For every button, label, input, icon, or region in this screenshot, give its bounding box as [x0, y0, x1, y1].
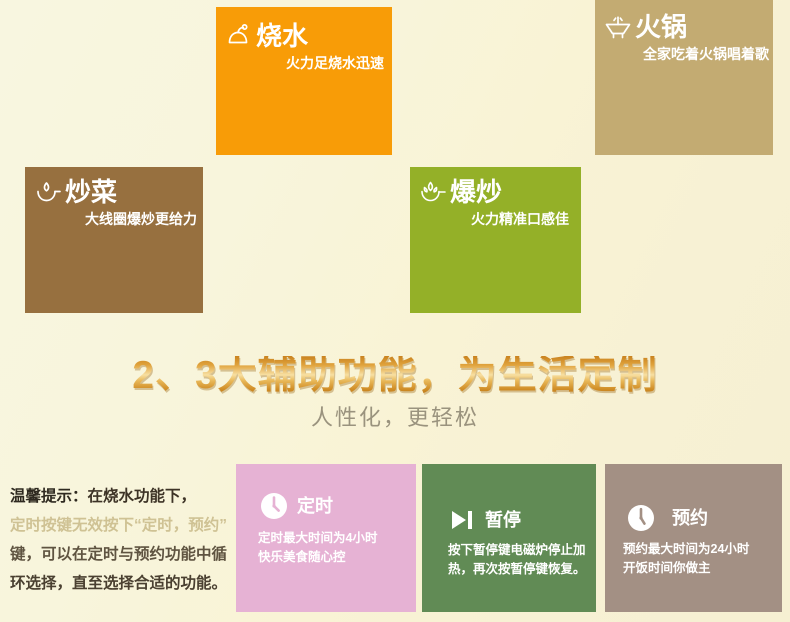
function-card-book-header: 预约 [623, 504, 782, 532]
function-card-pause-title: 暂停 [485, 511, 521, 529]
function-card-pause-desc-2: 热，再次按暂停键恢复。 [448, 560, 596, 579]
warm-tip: 温馨提示：在烧水功能下， 定时按键无效按下“定时，预约” 键，可以在定时与预约功… [10, 482, 238, 598]
warm-tip-line-4: 环选择，直至选择合适的功能。 [10, 569, 238, 598]
feature-tile-hotpot-subtitle: 全家吃着火锅唱着歌 [595, 47, 773, 61]
function-card-pause-body: 按下暂停键电磁炉停止加 热，再次按暂停键恢复。 [448, 541, 596, 580]
function-card-book: 预约 预约最大时间为24小时 开饭时间你做主 [605, 464, 782, 612]
function-card-timer: 定时 定时最大时间为4小时 快乐美食随心控 [236, 464, 416, 612]
page-title: 2、3大辅助功能，为生活定制 [132, 356, 657, 397]
function-card-book-body: 预约最大时间为24小时 开饭时间你做主 [623, 540, 782, 579]
warm-tip-line-3: 键，可以在定时与预约功能中循 [10, 540, 238, 569]
function-card-timer-desc-2: 快乐美食随心控 [258, 548, 416, 567]
feature-tile-boil-title: 烧水 [256, 23, 308, 49]
function-card-pause-desc-1: 按下暂停键电磁炉停止加 [448, 541, 596, 560]
feature-tile-stirfry-title: 爆炒 [450, 179, 502, 205]
clock-icon [260, 492, 288, 520]
feature-tile-stirfry: 爆炒 火力精准口感佳 [410, 167, 581, 313]
feature-tile-boil-header: 烧水 [216, 21, 392, 51]
feature-tile-fry: 炒菜 大线圈爆炒更给力 [25, 167, 203, 313]
function-card-pause: 暂停 按下暂停键电磁炉停止加 热，再次按暂停键恢复。 [422, 464, 596, 612]
warm-tip-label: 温馨提示： [10, 488, 88, 505]
pause-next-icon [448, 506, 476, 534]
wok-flame-icon [33, 177, 63, 207]
function-card-book-desc-2: 开饭时间你做主 [623, 559, 782, 578]
feature-tile-fry-header: 炒菜 [25, 177, 203, 207]
function-card-timer-desc-1: 定时最大时间为4小时 [258, 529, 416, 548]
function-card-timer-header: 定时 [258, 492, 416, 520]
headline-block: 2、3大辅助功能，为生活定制 人性化，更轻松 [0, 356, 790, 429]
warm-tip-line-1: 温馨提示：在烧水功能下， [10, 482, 238, 511]
function-card-book-title: 预约 [672, 509, 708, 527]
function-card-pause-header: 暂停 [448, 506, 596, 534]
warm-tip-line-1-rest: 在烧水功能下， [88, 488, 197, 505]
warm-tip-line-2: 定时按键无效按下“定时，预约” [10, 511, 238, 540]
feature-tile-boil-subtitle: 火力足烧水迅速 [216, 56, 392, 70]
feature-tile-hotpot-title: 火锅 [635, 14, 687, 40]
feature-tile-hotpot: 火锅 全家吃着火锅唱着歌 [595, 0, 773, 155]
function-card-timer-title: 定时 [297, 497, 333, 515]
feature-tile-hotpot-header: 火锅 [595, 12, 773, 42]
page-subtitle: 人性化，更轻松 [0, 407, 790, 429]
hotpot-icon [603, 12, 633, 42]
function-card-book-desc-1: 预约最大时间为24小时 [623, 540, 782, 559]
promo-page: 烧水 火力足烧水迅速 火锅 全家吃着火锅唱着歌 [0, 0, 790, 622]
kettle-icon [224, 21, 254, 51]
feature-tile-fry-subtitle: 大线圈爆炒更给力 [25, 212, 203, 226]
feature-tile-stirfry-header: 爆炒 [410, 177, 581, 207]
feature-tile-stirfry-subtitle: 火力精准口感佳 [410, 212, 581, 226]
clock-icon [627, 504, 655, 532]
function-card-timer-body: 定时最大时间为4小时 快乐美食随心控 [258, 529, 416, 568]
stirfry-flame-icon [418, 177, 448, 207]
feature-tile-boil: 烧水 火力足烧水迅速 [216, 7, 392, 155]
feature-tile-fry-title: 炒菜 [65, 179, 117, 205]
